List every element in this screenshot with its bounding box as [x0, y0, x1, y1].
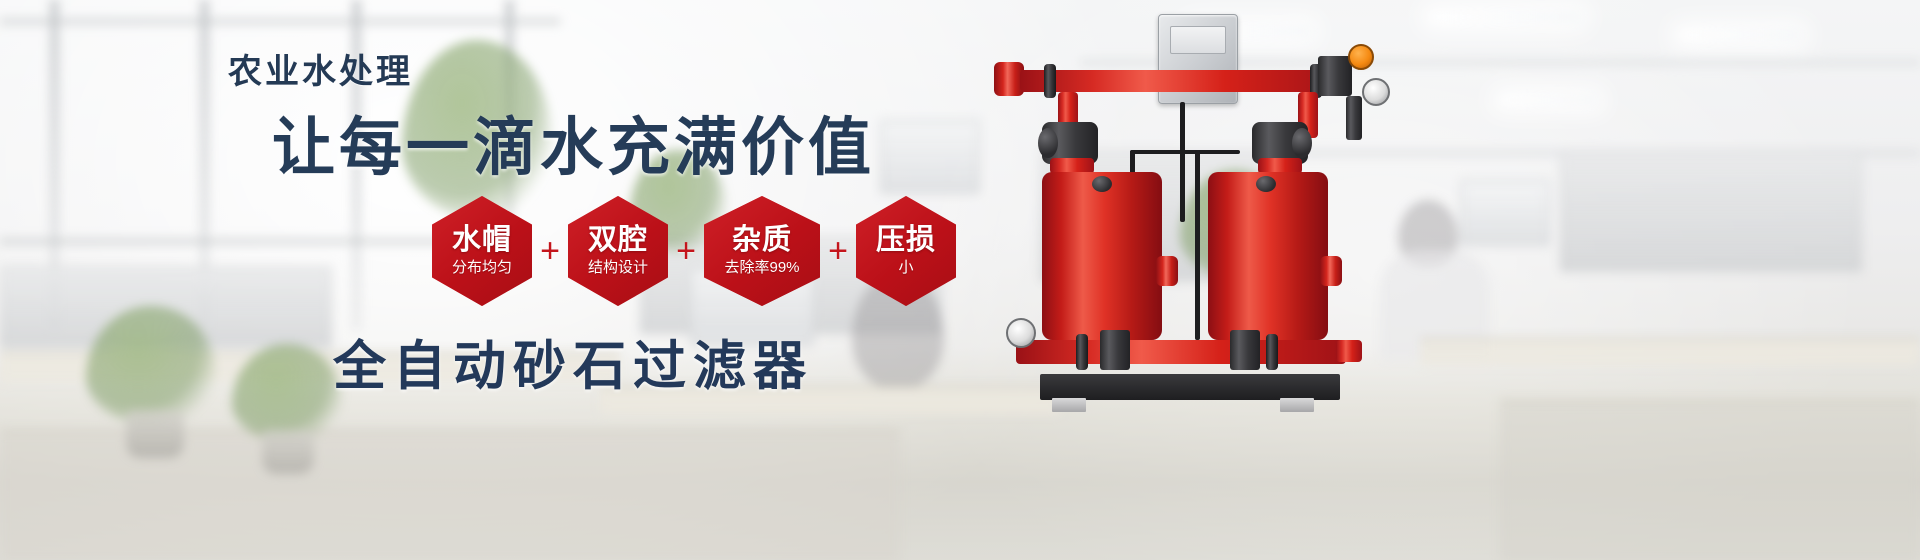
banner-eyebrow: 农业水处理 [228, 44, 413, 93]
floor [1500, 400, 1920, 560]
badge-subtitle: 小 [898, 259, 913, 277]
badge-subtitle: 结构设计 [588, 259, 648, 277]
side-pipe [1346, 96, 1362, 140]
top-valve-body [1318, 56, 1352, 96]
tank-side-nozzle-left [1156, 256, 1178, 286]
feature-badge[interactable]: 压损 小 [856, 196, 956, 306]
ceiling-light [1500, 96, 1596, 104]
badge-title: 双腔 [588, 225, 648, 255]
banner-subline: 全自动砂石过滤器 [333, 324, 813, 400]
banner-text-block: 农业水处理 让每一滴水充满价值 水帽 分布均匀 + 双腔 结构设计 + 杂质 去… [0, 0, 1060, 560]
banner-headline: 让每一滴水充满价值 [272, 97, 875, 188]
ceiling-light [1680, 30, 1800, 40]
plus-separator-icon: + [668, 234, 704, 268]
controller-cable [1195, 150, 1200, 340]
bottom-manifold-pipe [1016, 340, 1346, 364]
controller-cable [1180, 102, 1185, 222]
badge-title: 压损 [876, 225, 936, 255]
filter-tank-right [1208, 172, 1328, 340]
ceiling-light [1430, 12, 1580, 22]
filter-tank-left [1042, 172, 1162, 340]
feature-badge[interactable]: 杂质 去除率99% [704, 196, 820, 306]
bottom-valve [1100, 330, 1130, 370]
base-frame [1040, 374, 1340, 400]
feature-badge[interactable]: 双腔 结构设计 [568, 196, 668, 306]
feature-badge-row: 水帽 分布均匀 + 双腔 结构设计 + 杂质 去除率99% + 压损 小 [432, 196, 956, 306]
badge-title: 杂质 [732, 225, 792, 255]
product-banner: BAIYCARA [0, 0, 1920, 560]
plus-separator-icon: + [820, 234, 856, 268]
base-foot [1280, 398, 1314, 412]
badge-subtitle: 分布均匀 [452, 259, 512, 277]
bottom-valve [1230, 330, 1260, 370]
pipe-flange [1076, 334, 1088, 370]
plus-separator-icon: + [532, 234, 568, 268]
pressure-gauge-top [1362, 78, 1390, 106]
pressure-relief-valve [1348, 44, 1374, 70]
badge-subtitle: 去除率99% [724, 259, 799, 277]
outlet-pipe [1336, 340, 1362, 362]
feature-badge[interactable]: 水帽 分布均匀 [432, 196, 532, 306]
pipe-flange [1266, 334, 1278, 370]
monitor [1460, 180, 1550, 246]
tank-port-left [1092, 176, 1112, 192]
desk-surface [1420, 338, 1920, 366]
office-partition [1560, 150, 1862, 272]
controller-cable [1130, 150, 1240, 154]
tank-port-right [1256, 176, 1276, 192]
valve-handle [1292, 128, 1312, 158]
badge-title: 水帽 [452, 225, 512, 255]
tank-side-nozzle-right [1320, 256, 1342, 286]
controller-screen [1170, 26, 1226, 54]
top-manifold-pipe [1020, 70, 1350, 92]
